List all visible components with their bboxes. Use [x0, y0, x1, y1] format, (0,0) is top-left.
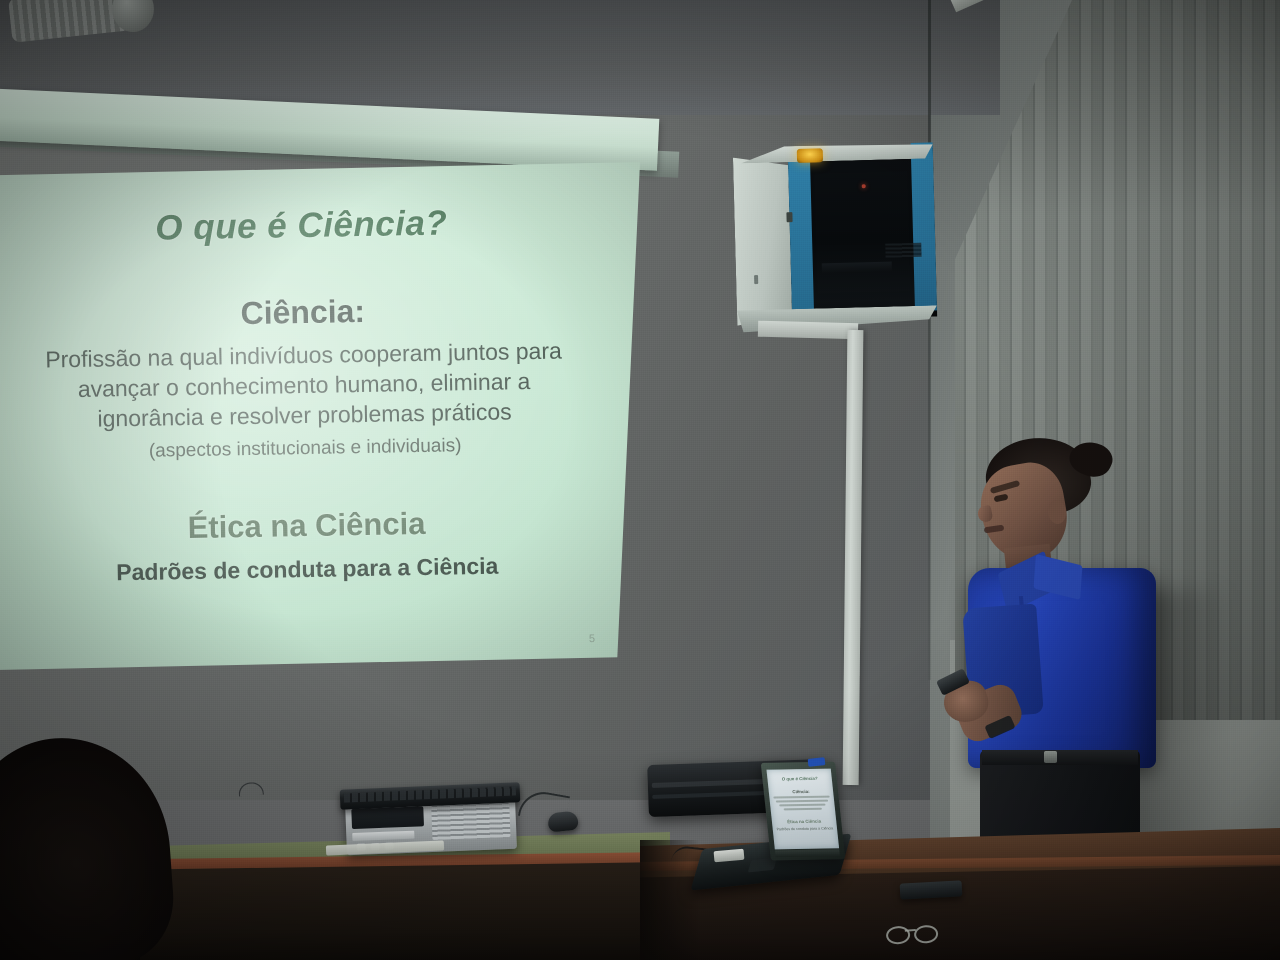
air-conditioner[interactable]: [733, 142, 938, 327]
slide-parenthetical: (aspectos institucionais e individuais): [0, 432, 618, 465]
pc-vent-grille: [431, 803, 510, 840]
slide-number: 5: [589, 633, 595, 645]
laptop-slide-body-line: [779, 804, 825, 807]
slide-subtitle: Padrões de conduta para a Ciência: [0, 550, 620, 588]
laptop-slide-heading: Ciência:: [769, 789, 834, 795]
slide: O que é Ciência? Ciência: Profissão na q…: [0, 155, 621, 666]
air-conditioner-blue-trim-left: [788, 149, 814, 322]
pc-optical-drive[interactable]: [351, 806, 424, 829]
presenter-belt-buckle: [1044, 751, 1057, 763]
laptop-slide-body-line: [784, 808, 821, 811]
mouse[interactable]: [547, 810, 579, 832]
left-desk-front-panel: [110, 862, 672, 960]
laptop-slide-section: Ética na Ciência: [772, 818, 837, 824]
laptop-slide-body-line: [773, 796, 830, 799]
air-conditioner-indicator-light: [797, 148, 823, 163]
air-conditioner-led-icon: [862, 184, 866, 188]
air-conditioner-vent-slats: [885, 243, 921, 258]
laptop-screen[interactable]: O que é Ciência? Ciência: Ética na Ciênc…: [766, 769, 839, 850]
slide-section-heading: Ética na Ciência: [0, 502, 619, 549]
laptop-slide-title: O que é Ciência?: [767, 776, 832, 782]
laptop-bezel: [775, 849, 840, 857]
laptop-lid[interactable]: O que é Ciência? Ciência: Ética na Ciênc…: [761, 762, 846, 861]
slide-heading: Ciência:: [0, 289, 616, 337]
laptop-slide-body-line: [776, 800, 828, 803]
phone-remote[interactable]: [900, 880, 963, 899]
presenter-belt: [982, 750, 1138, 765]
keyboard-keys[interactable]: [344, 786, 516, 802]
laptop-slide-subtitle: Padrões de conduta para a Ciência: [773, 826, 838, 831]
laptop[interactable]: O que é Ciência? Ciência: Ética na Ciênc…: [690, 762, 880, 887]
air-conditioner-louver: [822, 262, 892, 274]
air-conditioner-screw: [754, 275, 758, 284]
slide-title: O que é Ciência?: [0, 201, 614, 252]
projection-screen: O que é Ciência? Ciência: Profissão na q…: [0, 160, 640, 670]
pc-floppy-drive[interactable]: [352, 831, 414, 841]
air-conditioner-latch: [786, 212, 792, 222]
photo-scene: O que é Ciência? Ciência: Profissão na q…: [0, 0, 1280, 960]
conduit-elbow: [758, 321, 858, 340]
air-conditioner-blue-trim-right: [911, 142, 937, 311]
